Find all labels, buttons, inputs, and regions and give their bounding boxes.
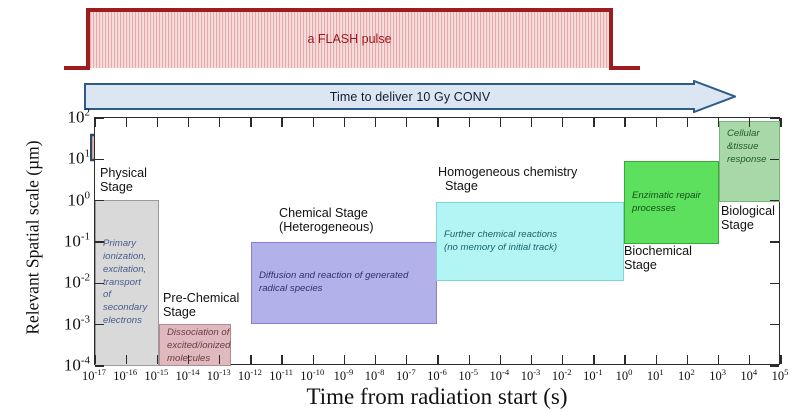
figure-canvas: a FLASH pulse Time to deliver 10 Gy CONV [0, 0, 811, 413]
y-tick [770, 283, 779, 284]
x-tick [94, 355, 95, 364]
x-tick-label: 10-7 [396, 367, 416, 384]
x-tick [281, 355, 282, 364]
x-tick [624, 355, 625, 364]
x-tick-label: 100 [616, 367, 633, 384]
x-tick [624, 118, 625, 127]
stage-title-biochemical: Biochemical Stage [624, 244, 692, 272]
x-tick [687, 118, 688, 127]
stage-body-prechemical: Dissociation of excited/ionized molecule… [160, 327, 237, 365]
x-tick [469, 355, 470, 364]
x-tick-label: 10-9 [334, 367, 354, 384]
x-tick [531, 355, 532, 364]
stage-body-homogeneous: Further chemical reactions (no memory of… [437, 229, 564, 255]
x-tick [656, 118, 657, 127]
x-tick [500, 118, 501, 127]
x-tick-label: 102 [678, 367, 695, 384]
x-tick [375, 355, 376, 364]
x-tick [656, 355, 657, 364]
stage-box-homogeneous: Further chemical reactions (no memory of… [436, 202, 624, 281]
x-tick [469, 118, 470, 127]
x-tick [593, 118, 594, 127]
y-tick [95, 117, 104, 118]
y-tick [770, 117, 779, 118]
stage-title-prechemical: Pre-Chemical Stage [163, 291, 239, 319]
y-tick-label: 10-3 [64, 313, 90, 334]
x-tick [250, 355, 251, 364]
x-tick [562, 355, 563, 364]
y-tick [95, 241, 104, 242]
stage-body-cellular: Cellular &tissue response [720, 128, 779, 166]
x-tick [126, 355, 127, 364]
x-tick [718, 118, 719, 127]
x-axis-title: Time from radiation start (s) [94, 384, 780, 410]
x-tick-label: 10-2 [552, 367, 572, 384]
x-tick [281, 118, 282, 127]
y-tick-label: 101 [68, 148, 91, 169]
stage-body-biochemical: Enzimatic repair processes [625, 190, 718, 216]
stage-body-physical: Primary ionization, excitation, transpor… [96, 238, 158, 327]
y-tick [770, 159, 779, 160]
x-tick [219, 355, 220, 364]
y-tick [95, 200, 104, 201]
x-tick [531, 118, 532, 127]
x-tick [562, 118, 563, 127]
x-tick [188, 118, 189, 127]
y-tick [770, 200, 779, 201]
conv-delivery-arrow: Time to deliver 10 Gy CONV [84, 80, 736, 113]
x-tick [749, 118, 750, 127]
x-tick-label: 10-11 [269, 367, 293, 384]
x-tick-label: 10-8 [365, 367, 385, 384]
x-tick [687, 355, 688, 364]
x-tick [500, 355, 501, 364]
x-tick-label: 10-13 [207, 367, 231, 384]
stage-title-homogeneous: Homogeneous chemistry Stage [438, 165, 577, 193]
y-tick-label: 10-4 [64, 355, 90, 376]
y-axis-title: Relevant Spatial scale (µm) [23, 113, 44, 363]
y-tick [95, 159, 104, 160]
x-tick-label: 103 [709, 367, 726, 384]
stage-title-chemical: Chemical Stage (Heterogeneous) [279, 206, 374, 234]
x-tick-label: 10-4 [490, 367, 510, 384]
x-tick [780, 355, 781, 364]
stage-box-cellular: Cellular &tissue response [719, 121, 780, 202]
x-tick [375, 118, 376, 127]
y-tick [95, 324, 104, 325]
y-tick-label: 100 [68, 189, 91, 210]
x-tick-label: 104 [740, 367, 757, 384]
x-tick [313, 355, 314, 364]
x-tick-label: 10-3 [521, 367, 541, 384]
x-tick [157, 355, 158, 364]
stage-box-biochemical: Enzimatic repair processes [624, 161, 719, 244]
x-tick-label: 105 [772, 367, 789, 384]
flash-pulse-waveform: a FLASH pulse [0, 0, 811, 78]
x-tick [250, 118, 251, 127]
x-tick [188, 355, 189, 364]
x-tick [437, 118, 438, 127]
stage-title-physical: Physical Stage [100, 166, 147, 194]
x-tick [437, 355, 438, 364]
y-tick [95, 283, 104, 284]
x-tick [718, 355, 719, 364]
x-tick-label: 10-15 [144, 367, 168, 384]
conv-arrow-label: Time to deliver 10 Gy CONV [84, 80, 778, 113]
x-tick-label: 10-6 [427, 367, 447, 384]
x-tick [749, 355, 750, 364]
x-tick-label: 10-12 [238, 367, 262, 384]
x-tick [344, 118, 345, 127]
x-tick-label: 101 [647, 367, 664, 384]
y-axis-title-wrap: Relevant Spatial scale (µm) [0, 100, 30, 350]
x-tick-label: 10-5 [458, 367, 478, 384]
y-tick-label: 10-2 [64, 272, 90, 293]
y-tick [770, 324, 779, 325]
stage-title-biological: Biological Stage [721, 204, 775, 232]
x-tick [94, 118, 95, 127]
y-tick-label: 10-1 [64, 231, 90, 252]
x-tick [406, 355, 407, 364]
x-tick [157, 118, 158, 127]
x-tick-label: 10-10 [300, 367, 324, 384]
y-tick [770, 241, 779, 242]
x-tick [406, 118, 407, 127]
x-tick-label: 10-1 [583, 367, 603, 384]
x-tick-label: 10-16 [113, 367, 137, 384]
stage-body-chemical: Diffusion and reaction of generated radi… [252, 270, 436, 296]
x-tick [126, 118, 127, 127]
stage-box-chemical: Diffusion and reaction of generated radi… [251, 242, 437, 324]
x-tick [780, 118, 781, 127]
x-tick [344, 355, 345, 364]
plot-area: Primary ionization, excitation, transpor… [94, 117, 780, 365]
x-tick-label: 10-14 [176, 367, 200, 384]
stage-box-physical: Primary ionization, excitation, transpor… [95, 200, 159, 366]
x-tick [313, 118, 314, 127]
x-tick [219, 118, 220, 127]
flash-pulse-label: a FLASH pulse [89, 10, 610, 68]
y-tick-label: 102 [68, 107, 91, 128]
x-tick [593, 355, 594, 364]
